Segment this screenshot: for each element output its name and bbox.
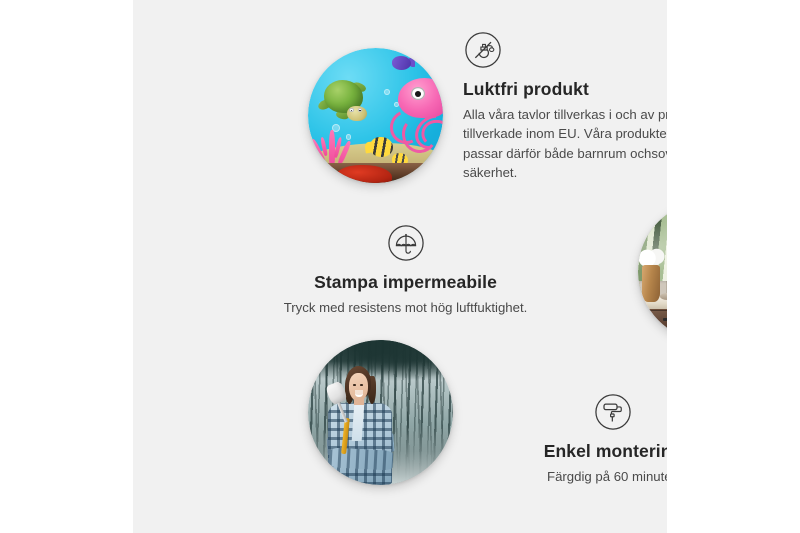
coral-icon	[311, 124, 360, 167]
vase	[642, 265, 660, 301]
feature-image-bathroom	[638, 201, 667, 341]
feature-title: Enkel montering	[463, 441, 667, 462]
turtle-icon	[322, 80, 376, 126]
feature-block-easy-assembly: Enkel montering Färgdig på 60 minuter.	[308, 340, 667, 490]
feature-image-underwater-cartoon	[308, 48, 443, 183]
product-features-panel: Luktfri produkt Alla våra tavlor tillver…	[133, 0, 667, 533]
feature-title: Stampa impermeabile	[208, 272, 603, 293]
feature-block-odourless: Luktfri produkt Alla våra tavlor tillver…	[308, 30, 667, 195]
woman-figure	[323, 366, 407, 485]
striped-fish-icon	[370, 137, 393, 157]
feature-body: Färgdig på 60 minuter.	[463, 467, 667, 486]
feature-text-odourless: Luktfri produkt Alla våra tavlor tillver…	[463, 30, 667, 183]
feature-image-woman-paint-roller	[308, 340, 453, 485]
roller-head	[324, 380, 347, 405]
octopus-icon	[388, 78, 443, 148]
feature-text-easy-assembly: Enkel montering Färgdig på 60 minuter.	[463, 392, 667, 486]
paint-roller-icon	[593, 392, 633, 432]
feature-text-waterproof: Stampa impermeabile Tryck med resistens …	[208, 223, 603, 317]
feature-block-waterproof: Stampa impermeabile Tryck med resistens …	[208, 195, 667, 350]
purple-fish-icon	[392, 56, 411, 70]
feature-body: Tryck med resistens mot hög luftfuktighe…	[208, 298, 603, 317]
feature-body: Alla våra tavlor tillverkas i och av pro…	[463, 105, 667, 183]
drawer-handle	[663, 318, 667, 321]
screenshot-canvas: Luktfri produkt Alla våra tavlor tillver…	[0, 0, 800, 533]
feature-title: Luktfri produkt	[463, 79, 667, 100]
no-fragrance-icon	[463, 30, 503, 70]
umbrella-icon	[386, 223, 426, 263]
red-rock	[335, 165, 392, 183]
